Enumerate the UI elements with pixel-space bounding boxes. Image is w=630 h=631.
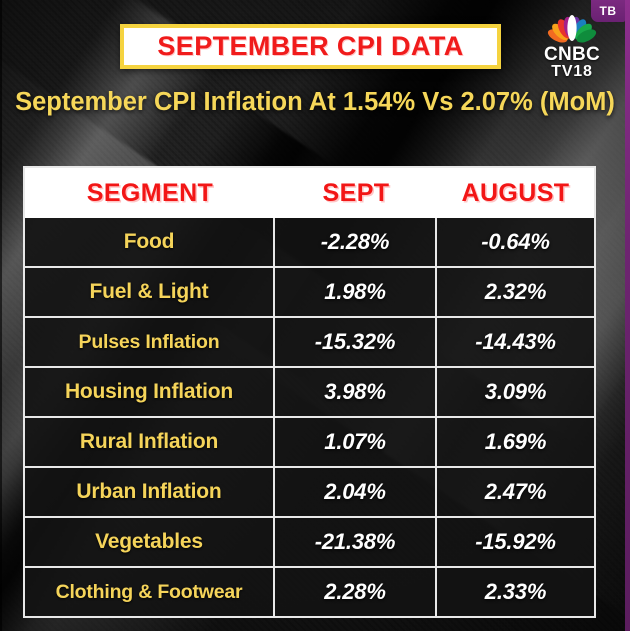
cnbc-tv18-logo: CNBC TV18 — [533, 14, 611, 76]
table-row: Clothing & Footwear 2.28% 2.33% — [25, 566, 594, 616]
august-value: -14.43% — [475, 329, 556, 355]
cell-sept: 1.07% — [275, 418, 437, 466]
august-value: 2.33% — [485, 579, 546, 605]
cell-sept: -15.32% — [275, 318, 437, 366]
sept-value: -2.28% — [321, 229, 390, 255]
august-value: -15.92% — [475, 529, 556, 555]
segment-label: Food — [124, 230, 175, 254]
august-value: -0.64% — [481, 229, 550, 255]
headline-banner: SEPTEMBER CPI DATA — [120, 24, 501, 69]
cell-segment: Urban Inflation — [25, 468, 275, 516]
august-value: 2.47% — [485, 479, 546, 505]
sept-value: 2.04% — [324, 479, 385, 505]
cell-august: 3.09% — [437, 368, 594, 416]
cell-august: -14.43% — [437, 318, 594, 366]
sept-value: 1.07% — [324, 429, 385, 455]
segment-label: Clothing & Footwear — [56, 581, 243, 604]
cell-sept: 1.98% — [275, 268, 437, 316]
segment-label: Urban Inflation — [76, 480, 221, 504]
header-cell-sept: SEPT — [275, 168, 437, 218]
sept-value: -15.32% — [315, 329, 396, 355]
peacock-icon — [533, 14, 611, 44]
cell-sept: 2.28% — [275, 568, 437, 616]
table-header-row: SEGMENT SEPT AUGUST — [25, 168, 594, 218]
sept-value: 3.98% — [324, 379, 385, 405]
table-row: Food -2.28% -0.64% — [25, 218, 594, 266]
sept-value: 2.28% — [324, 579, 385, 605]
infographic-canvas: TB CNBC TV18 SEPTEMBER CPI — [0, 0, 630, 631]
cell-segment: Housing Inflation — [25, 368, 275, 416]
cell-august: 2.33% — [437, 568, 594, 616]
cell-august: 2.47% — [437, 468, 594, 516]
column-header-august: AUGUST — [462, 179, 570, 208]
sept-value: 1.98% — [324, 279, 385, 305]
banner-title: SEPTEMBER CPI DATA — [157, 31, 463, 62]
table-row: Housing Inflation 3.98% 3.09% — [25, 366, 594, 416]
cell-segment: Clothing & Footwear — [25, 568, 275, 616]
cell-segment: Fuel & Light — [25, 268, 275, 316]
cell-segment: Rural Inflation — [25, 418, 275, 466]
column-header-segment: SEGMENT — [87, 179, 213, 208]
august-value: 3.09% — [485, 379, 546, 405]
cell-segment: Vegetables — [25, 518, 275, 566]
table-body: Food -2.28% -0.64% Fuel & Light 1.98% 2.… — [25, 218, 594, 616]
logo-tv18-text: TV18 — [533, 64, 611, 81]
cell-august: -0.64% — [437, 218, 594, 266]
segment-label: Housing Inflation — [65, 380, 233, 404]
table-row: Pulses Inflation -15.32% -14.43% — [25, 316, 594, 366]
header-cell-segment: SEGMENT — [25, 168, 275, 218]
table-row: Urban Inflation 2.04% 2.47% — [25, 466, 594, 516]
august-value: 2.32% — [485, 279, 546, 305]
sept-value: -21.38% — [315, 529, 396, 555]
segment-label: Rural Inflation — [80, 430, 218, 454]
cell-sept: -21.38% — [275, 518, 437, 566]
segment-label: Pulses Inflation — [79, 331, 220, 354]
page-subtitle: September CPI Inflation At 1.54% Vs 2.07… — [0, 86, 630, 119]
cell-august: 1.69% — [437, 418, 594, 466]
cell-august: 2.32% — [437, 268, 594, 316]
cell-sept: 2.04% — [275, 468, 437, 516]
header-cell-august: AUGUST — [437, 168, 594, 218]
logo-cnbc-text: CNBC — [533, 45, 611, 64]
table-row: Rural Inflation 1.07% 1.69% — [25, 416, 594, 466]
segment-label: Vegetables — [95, 530, 203, 554]
cell-sept: -2.28% — [275, 218, 437, 266]
august-value: 1.69% — [485, 429, 546, 455]
cell-segment: Food — [25, 218, 275, 266]
table-row: Fuel & Light 1.98% 2.32% — [25, 266, 594, 316]
cell-august: -15.92% — [437, 518, 594, 566]
cell-sept: 3.98% — [275, 368, 437, 416]
cpi-data-table: SEGMENT SEPT AUGUST Food -2.28% -0.64% F… — [23, 166, 596, 618]
segment-label: Fuel & Light — [90, 280, 209, 304]
cell-segment: Pulses Inflation — [25, 318, 275, 366]
column-header-sept: SEPT — [323, 179, 390, 208]
table-row: Vegetables -21.38% -15.92% — [25, 516, 594, 566]
